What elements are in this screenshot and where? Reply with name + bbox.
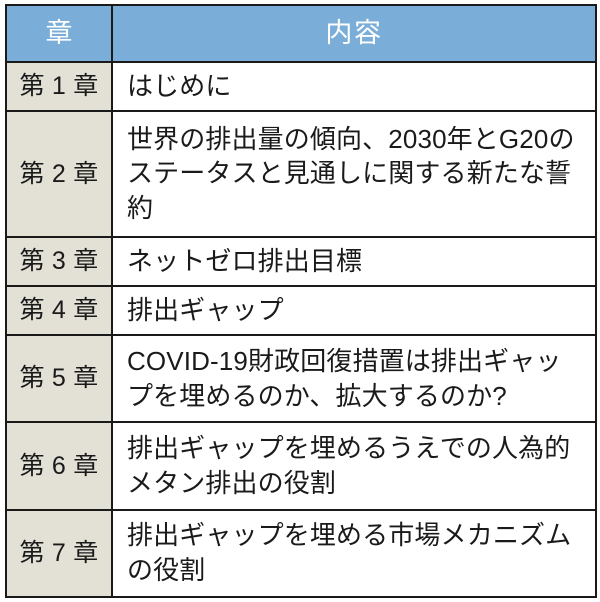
- chapter-label: 第 5 章: [19, 364, 98, 393]
- table-sheet: 章 内容 第 1 章 はじめに 第 2 章 世界の排出量の傾向、2030年とG2…: [0, 0, 600, 602]
- chapter-label: 第 6 章: [19, 452, 98, 481]
- column-header-chapter: 章: [6, 5, 112, 62]
- chapter-label: 第 7 章: [19, 539, 98, 568]
- cell-chapter-title: 排出ギャップを埋める市場メカニズムの役割: [112, 510, 596, 597]
- cell-chapter-title: 世界の排出量の傾向、2030年とG20のステータスと見通しに関する新たな誓約: [112, 111, 596, 237]
- table-row: 第 1 章 はじめに: [6, 62, 596, 111]
- cell-chapter-number: 第 1 章: [6, 62, 112, 111]
- cell-chapter-number: 第 2 章: [6, 111, 112, 237]
- table-body: 第 1 章 はじめに 第 2 章 世界の排出量の傾向、2030年とG20のステー…: [6, 62, 596, 597]
- table-row: 第 4 章 排出ギャップ: [6, 286, 596, 335]
- cell-chapter-number: 第 7 章: [6, 510, 112, 597]
- table-row: 第 5 章 COVID-19財政回復措置は排出ギャップを埋めるのか、拡大するのか…: [6, 335, 596, 422]
- column-header-content: 内容: [112, 5, 596, 62]
- cell-chapter-title: 排出ギャップを埋めるうえでの人為的メタン排出の役割: [112, 422, 596, 509]
- cell-chapter-number: 第 4 章: [6, 286, 112, 335]
- table-row: 第 6 章 排出ギャップを埋めるうえでの人為的メタン排出の役割: [6, 422, 596, 509]
- chapter-contents-table: 章 内容 第 1 章 はじめに 第 2 章 世界の排出量の傾向、2030年とG2…: [5, 4, 597, 598]
- cell-chapter-number: 第 3 章: [6, 237, 112, 286]
- cell-chapter-title: はじめに: [112, 62, 596, 111]
- table-row: 第 7 章 排出ギャップを埋める市場メカニズムの役割: [6, 510, 596, 597]
- chapter-label: 第 3 章: [19, 247, 98, 276]
- chapter-label: 第 2 章: [19, 160, 98, 189]
- cell-chapter-title: 排出ギャップ: [112, 286, 596, 335]
- table-header: 章 内容: [6, 5, 596, 62]
- table-row: 第 3 章 ネットゼロ排出目標: [6, 237, 596, 286]
- cell-chapter-number: 第 5 章: [6, 335, 112, 422]
- table-header-row: 章 内容: [6, 5, 596, 62]
- cell-chapter-title: COVID-19財政回復措置は排出ギャップを埋めるのか、拡大するのか?: [112, 335, 596, 422]
- table-row: 第 2 章 世界の排出量の傾向、2030年とG20のステータスと見通しに関する新…: [6, 111, 596, 237]
- chapter-label: 第 1 章: [19, 72, 98, 101]
- cell-chapter-title: ネットゼロ排出目標: [112, 237, 596, 286]
- cell-chapter-number: 第 6 章: [6, 422, 112, 509]
- chapter-label: 第 4 章: [19, 296, 98, 325]
